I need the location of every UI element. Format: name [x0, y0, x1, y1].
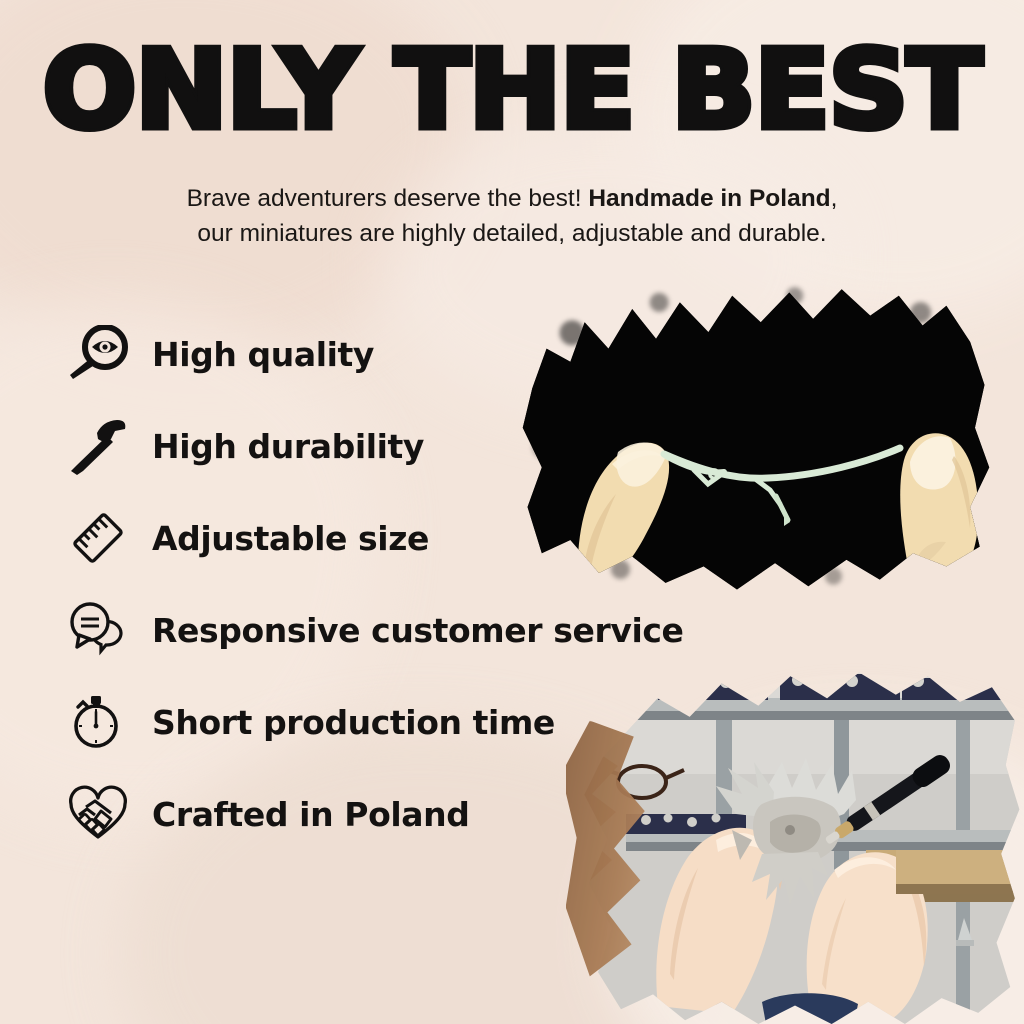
feature-label: Adjustable size: [152, 519, 429, 558]
subtitle-lead: Brave adventurers deserve the best!: [187, 185, 589, 212]
ruler-icon: [62, 507, 134, 569]
subtitle: Brave adventurers deserve the best! Hand…: [60, 182, 964, 252]
feature-label: Crafted in Poland: [152, 795, 469, 834]
photo-clip: [518, 276, 994, 606]
heart-handshake-icon: [62, 783, 134, 845]
hammer-icon: [62, 415, 134, 477]
feature-label: High quality: [152, 335, 374, 374]
photo-content: [566, 654, 1024, 1024]
photo-content: [518, 276, 994, 606]
speech-bubbles-icon: [62, 599, 134, 661]
stopwatch-icon: [62, 691, 134, 753]
magnifier-eye-icon: [62, 323, 134, 385]
page-title: ONLY THE BEST: [0, 36, 1024, 146]
subtitle-tail: ,: [831, 185, 838, 212]
feature-label: High durability: [152, 427, 424, 466]
subtitle-line2: our miniatures are highly detailed, adju…: [197, 220, 826, 247]
promo-poster: ONLY THE BEST Brave adventurers deserve …: [0, 0, 1024, 1024]
feature-label: Responsive customer service: [152, 611, 684, 650]
workshop-photo: [566, 654, 1024, 1024]
photo-clip: [566, 654, 1024, 1024]
subtitle-emphasis: Handmade in Poland: [588, 185, 830, 212]
feature-label: Short production time: [152, 703, 555, 742]
flex-demo-photo: [518, 276, 994, 606]
